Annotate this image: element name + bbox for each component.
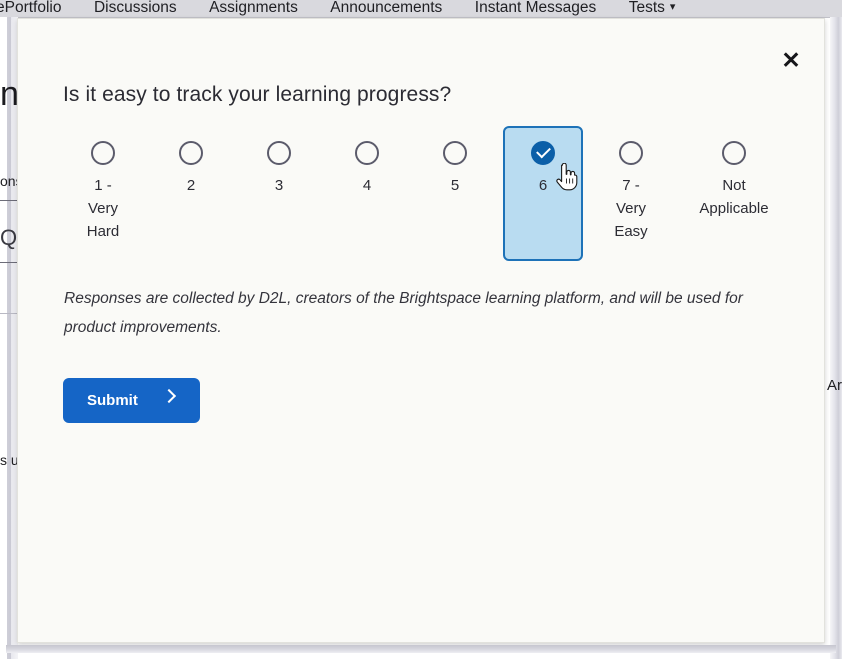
rating-option-label: 7 - Very Easy	[593, 174, 669, 243]
submit-button[interactable]: Submit	[63, 378, 200, 423]
nav-item-tests-label: Tests	[629, 0, 665, 16]
radio-icon	[722, 141, 746, 165]
rating-option-label: 5	[417, 174, 493, 197]
rating-option-6[interactable]: 6	[503, 126, 583, 261]
rating-option-not-applicable[interactable]: Not Applicable	[679, 126, 789, 261]
rating-scale: 1 - Very Hard 2 3 4 5 6 7 - Very Easy	[63, 126, 783, 271]
rating-option-label: 3	[241, 174, 317, 197]
nav-item-tests[interactable]: Tests▾	[615, 0, 690, 18]
background-right-fragment: Ar	[827, 377, 842, 394]
chevron-right-icon	[162, 389, 176, 403]
background-question-fragment: Q	[0, 225, 17, 251]
rating-option-4[interactable]: 4	[327, 126, 407, 261]
modal-drop-shadow	[6, 645, 836, 653]
rating-option-3[interactable]: 3	[239, 126, 319, 261]
rating-option-1[interactable]: 1 - Very Hard	[63, 126, 143, 261]
rating-option-label: 6	[505, 174, 581, 197]
rating-option-label: 2	[153, 174, 229, 197]
rating-option-2[interactable]: 2	[151, 126, 231, 261]
nav-item-eportfolio[interactable]: ePortfolio	[0, 0, 75, 16]
rating-option-label: 4	[329, 174, 405, 197]
nav-item-announcements[interactable]: Announcements	[316, 0, 456, 16]
survey-disclaimer: Responses are collected by D2L, creators…	[64, 284, 776, 342]
check-icon	[536, 144, 551, 159]
background-left-strip: n ons Q s u	[0, 17, 18, 659]
radio-icon	[91, 141, 115, 165]
rating-option-label: 1 - Very Hard	[65, 174, 141, 243]
radio-icon	[443, 141, 467, 165]
radio-icon	[619, 141, 643, 165]
background-submissions-fragment: s u	[0, 452, 19, 468]
chevron-down-icon: ▾	[670, 0, 676, 16]
survey-question: Is it easy to track your learning progre…	[63, 83, 451, 107]
radio-icon	[179, 141, 203, 165]
top-navigation-bar[interactable]: ePortfolio Discussions Assignments Annou…	[0, 0, 842, 18]
close-icon[interactable]: ✕	[774, 43, 808, 77]
feedback-survey-modal: ✕ Is it easy to track your learning prog…	[17, 18, 825, 643]
background-right-strip: Ar	[830, 17, 842, 659]
submit-button-label: Submit	[87, 392, 138, 409]
nav-item-instant-messages[interactable]: Instant Messages	[461, 0, 610, 16]
background-divider-1	[0, 200, 18, 201]
nav-item-discussions[interactable]: Discussions	[80, 0, 191, 16]
background-divider-2	[0, 262, 18, 263]
rating-option-label: Not Applicable	[681, 174, 787, 220]
background-divider-3	[0, 313, 18, 314]
rating-option-5[interactable]: 5	[415, 126, 495, 261]
rating-option-7[interactable]: 7 - Very Easy	[591, 126, 671, 261]
radio-icon	[267, 141, 291, 165]
radio-icon	[355, 141, 379, 165]
radio-icon-selected	[531, 141, 555, 165]
nav-item-assignments[interactable]: Assignments	[195, 0, 312, 16]
